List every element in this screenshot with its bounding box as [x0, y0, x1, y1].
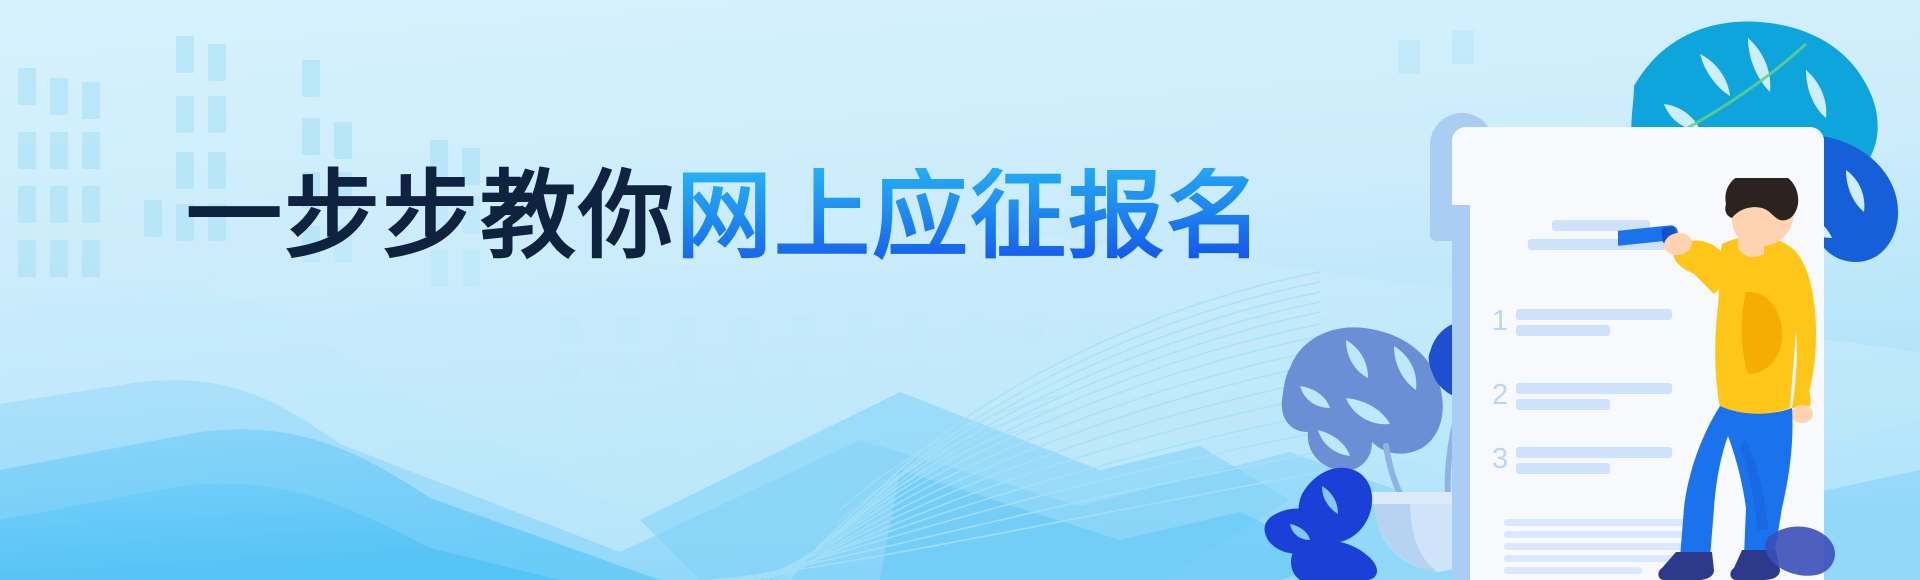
title-accent-segment: 网上应征报名 — [676, 168, 1264, 264]
list-number-2: 2 — [1492, 381, 1508, 410]
person-illustration — [1618, 178, 1920, 580]
person-shoe-left — [1658, 552, 1714, 580]
list-item-line — [1516, 399, 1610, 410]
person-right-hand — [1791, 405, 1813, 423]
title-dark-segment: 一步步教你 — [186, 168, 676, 264]
promotional-banner: 一步步教你网上应征报名 — [0, 0, 1920, 580]
list-number-1: 1 — [1492, 307, 1508, 336]
bright-blue-leaf — [1265, 468, 1377, 580]
document-spine — [1452, 205, 1470, 580]
list-item-line — [1516, 463, 1610, 474]
slate-monstera-leaf — [1282, 327, 1443, 470]
banner-title: 一步步教你网上应征报名 — [186, 168, 1264, 264]
list-number-3: 3 — [1492, 445, 1508, 474]
list-item-line — [1516, 325, 1610, 336]
